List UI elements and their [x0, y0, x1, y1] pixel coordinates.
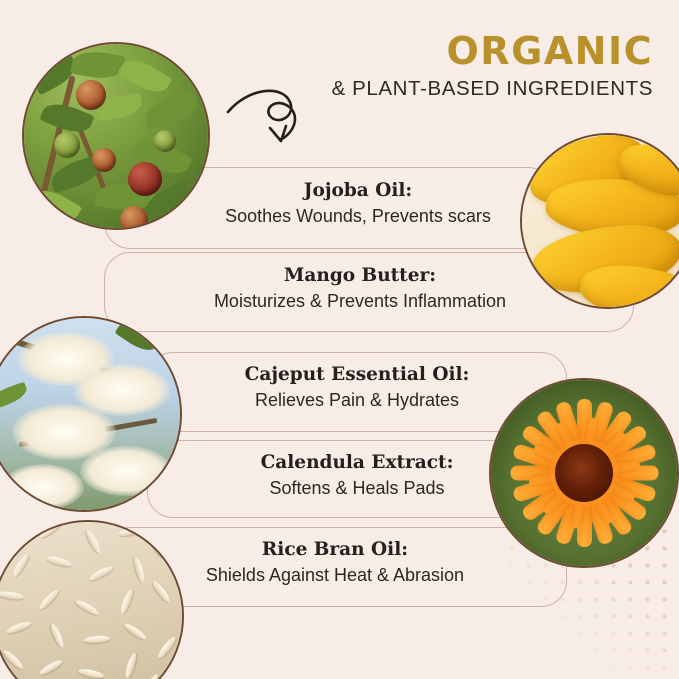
ingredient-description: Shields Against Heat & Abrasion — [135, 565, 535, 587]
infographic-canvas: ORGANIC & PLANT-BASED INGREDIENTS Jojoba… — [0, 0, 679, 679]
page-title: ORGANIC — [233, 32, 653, 70]
ingredient-jojoba: Jojoba Oil: Soothes Wounds, Prevents sca… — [180, 180, 536, 228]
jojoba-plant-photo — [22, 42, 210, 230]
mango-butter-photo — [520, 133, 679, 309]
ingredient-title: Rice Bran Oil: — [135, 539, 535, 560]
rice-grains-photo — [0, 520, 184, 679]
cajeput-flower-photo — [0, 316, 182, 512]
calendula-flower-photo — [489, 378, 679, 568]
ingredient-title: Jojoba Oil: — [180, 180, 536, 201]
ingredient-description: Soothes Wounds, Prevents scars — [180, 206, 536, 228]
curved-arrow-icon — [224, 80, 314, 152]
ingredient-rice: Rice Bran Oil: Shields Against Heat & Ab… — [135, 539, 535, 587]
